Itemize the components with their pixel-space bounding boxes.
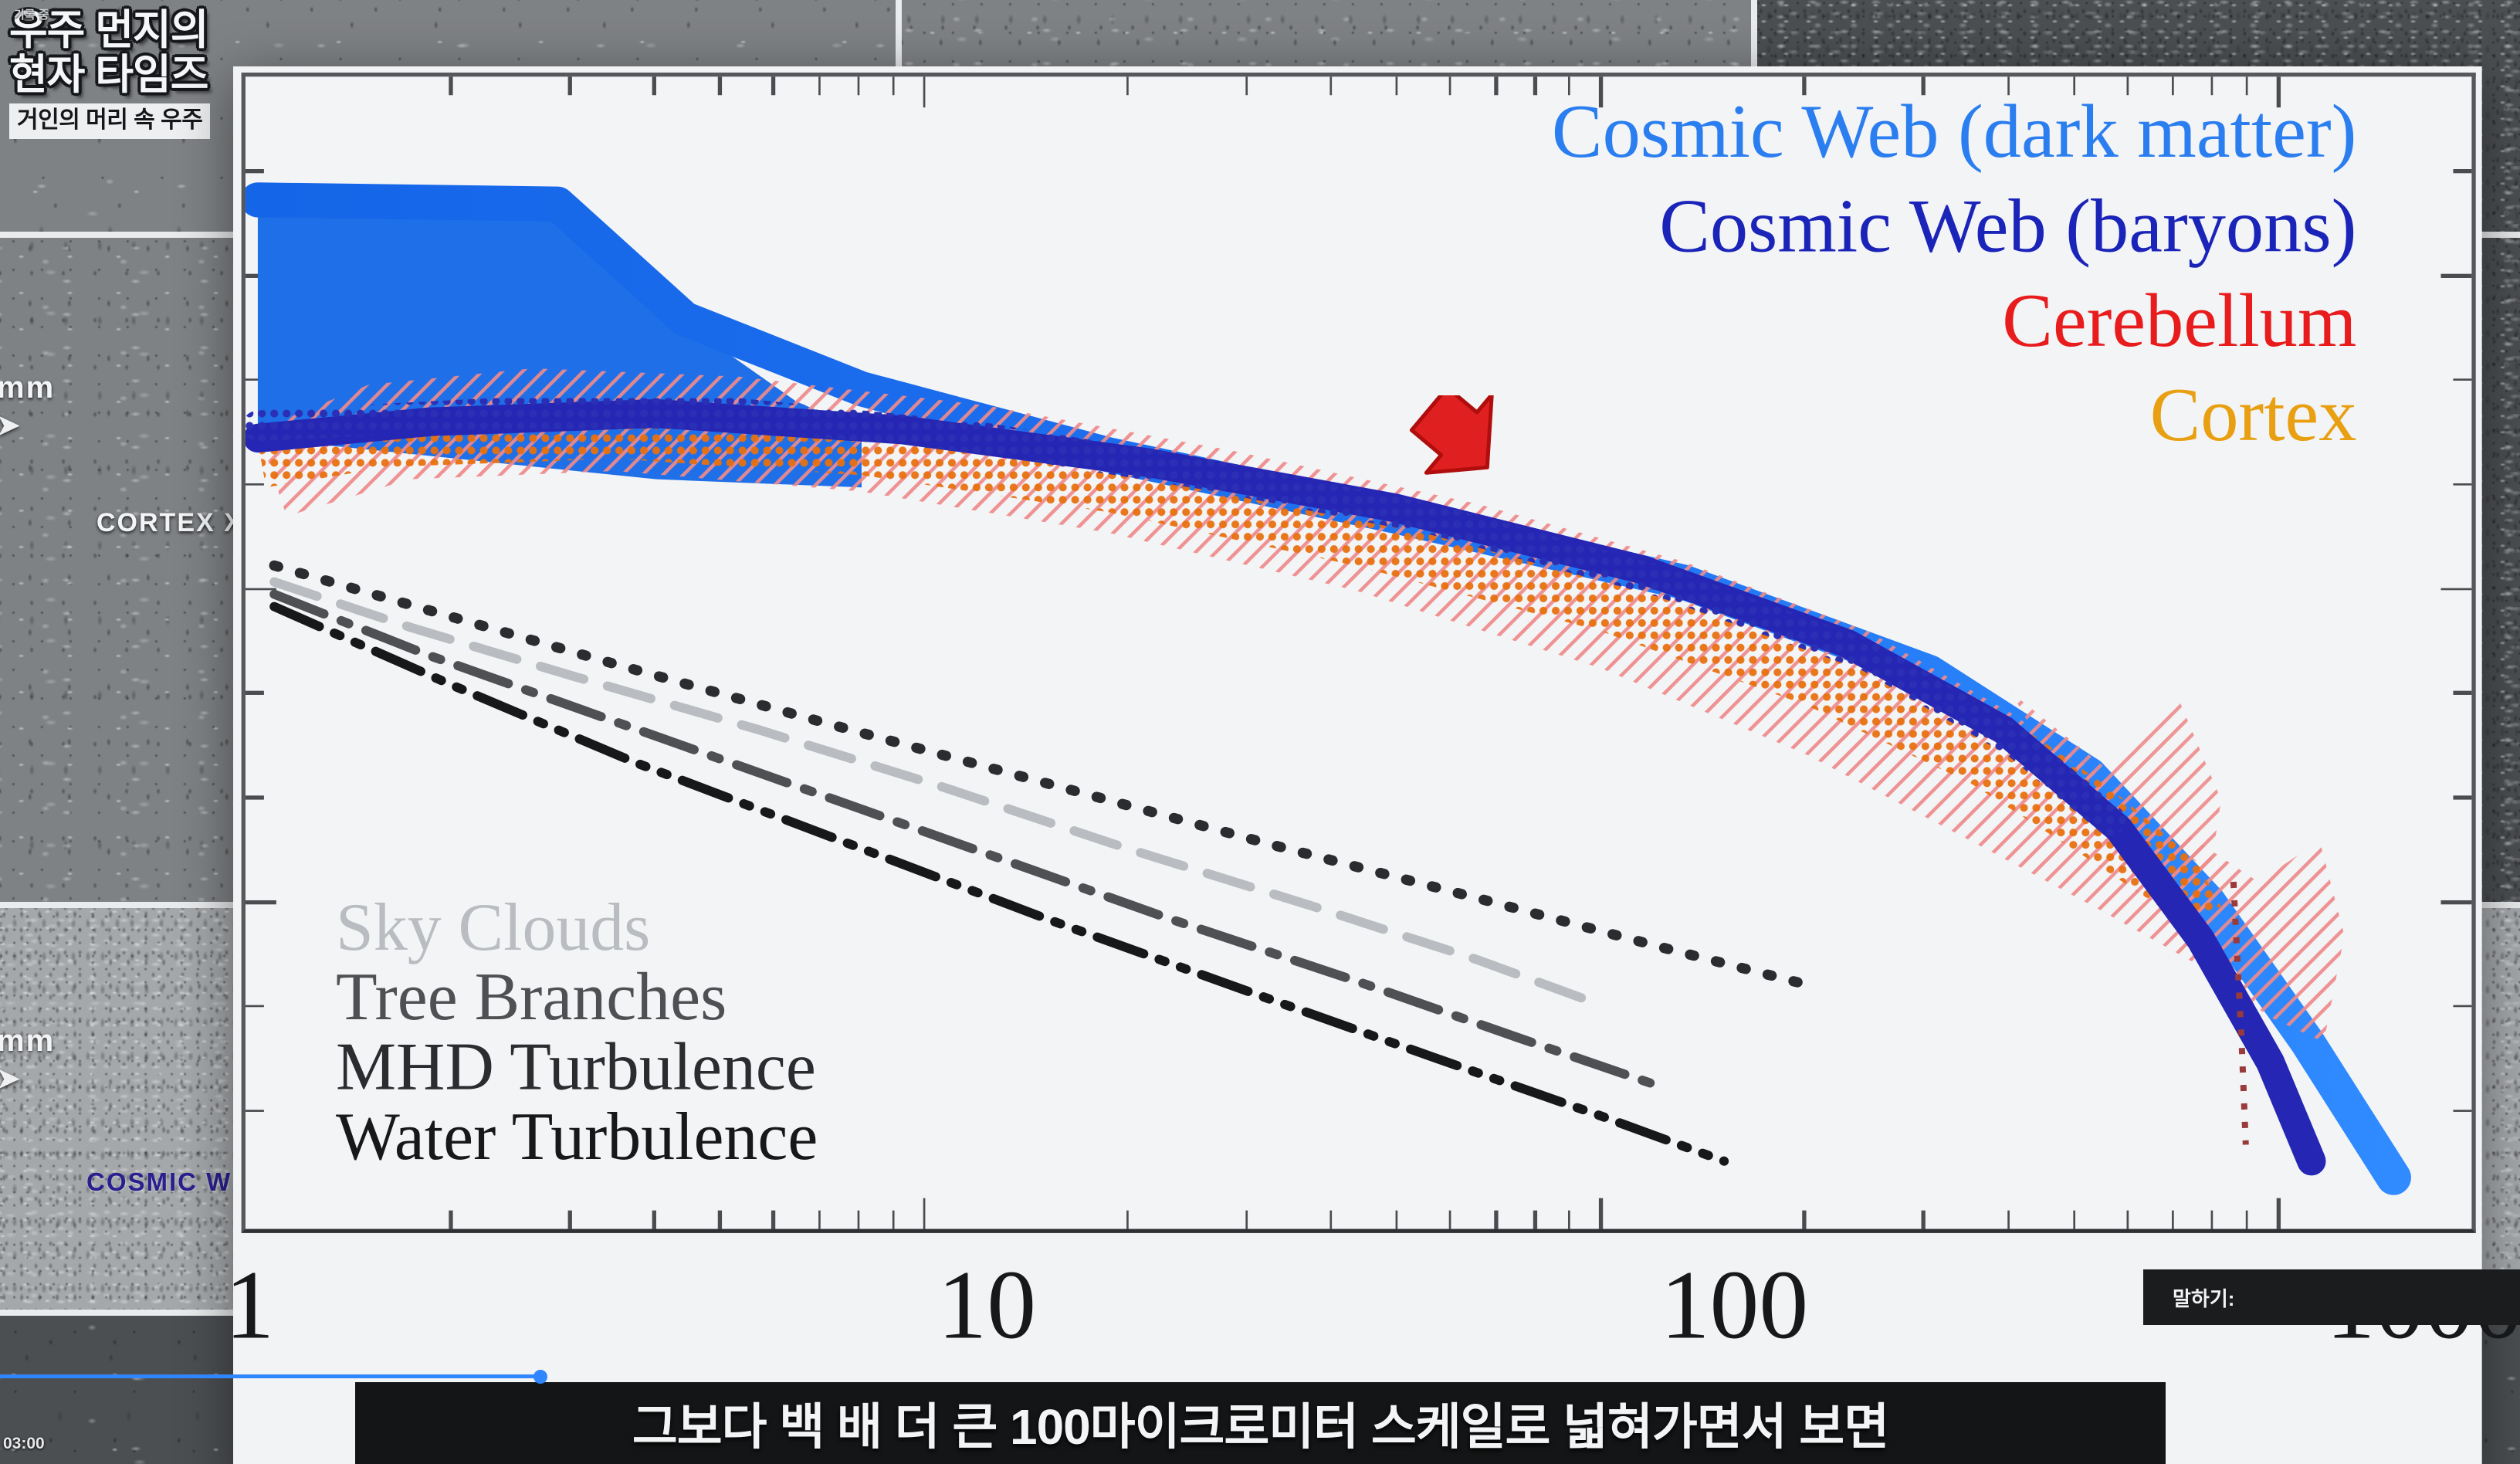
red-pointer-arrow-icon: [1359, 395, 1529, 519]
brand-title-line2: 현자 타임즈: [9, 53, 233, 97]
brand-plate: 기록 중 우주 먼지의 현자 타임즈 거인의 머리 속 우주: [9, 8, 233, 139]
x-tick-label-100: 100: [1661, 1249, 1809, 1362]
subtitle-text: 그보다 백 배 더 큰 100마이크로미터 스케일로 넓혀가면서 보면: [355, 1382, 2166, 1464]
legend-sky-clouds: Sky Clouds: [336, 894, 650, 964]
x-tick-label-10: 10: [937, 1249, 1036, 1362]
legend-cerebellum: Cerebellum: [2002, 282, 2356, 364]
playback-timestamp: 03:00: [3, 1435, 45, 1453]
presentation-slide: Cosmic Web (dark matter) Cosmic Web (bar…: [233, 66, 2482, 1464]
brand-subtitle: 거인의 머리 속 우주: [9, 103, 210, 139]
bg-label-mm-bottom: mm: [0, 1024, 55, 1059]
bg-arrow-bottom-left-icon: ➤: [0, 1061, 22, 1096]
legend-water-turbulence: Water Turbulence: [336, 1103, 818, 1173]
chart-plot-area: Cosmic Web (dark matter) Cosmic Web (bar…: [242, 73, 2476, 1233]
x-tick-label-1: 1: [225, 1249, 274, 1362]
legend-tree-branches: Tree Branches: [336, 964, 727, 1033]
legend-mhd-turbulence: MHD Turbulence: [336, 1034, 816, 1103]
legend-cosmic-web-baryons: Cosmic Web (baryons): [1659, 188, 2356, 269]
legend-cortex: Cortex: [2150, 377, 2357, 459]
bg-label-mm-top: mm: [0, 371, 55, 405]
speaking-label: 말하기:: [2173, 1283, 2234, 1312]
playback-progress-bar[interactable]: [0, 1374, 540, 1378]
bg-arrow-top-left-icon: ➤: [0, 408, 22, 443]
speaking-status-bar: 말하기:: [2143, 1269, 2520, 1325]
legend-cosmic-web-dark-matter: Cosmic Web (dark matter): [1552, 93, 2357, 175]
subtitle-bar: 그보다 백 배 더 큰 100마이크로미터 스케일로 넓혀가면서 보면: [355, 1382, 2166, 1464]
recording-indicator: 기록 중: [14, 6, 49, 22]
